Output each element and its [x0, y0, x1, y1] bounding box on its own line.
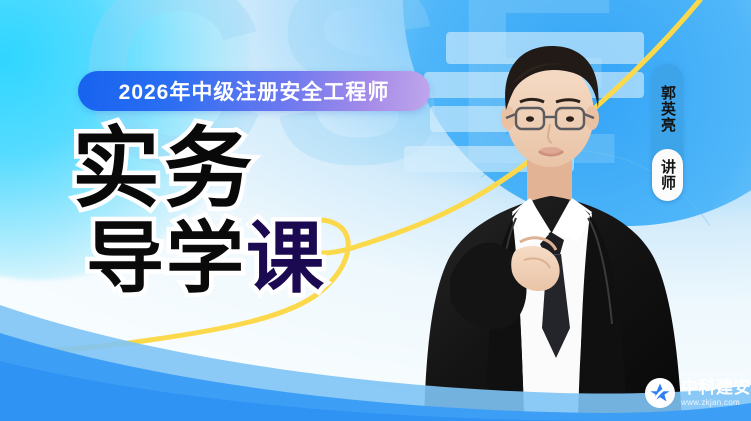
- headline-block: 实务 导学课: [72, 125, 326, 297]
- logo-text-group: 中科建安 www.zkjan.com: [681, 379, 751, 407]
- exam-title-badge[interactable]: 2026年中级注册安全工程师: [78, 71, 430, 111]
- headline-line-1: 实务: [72, 125, 326, 213]
- headline-line-2: 导学课: [86, 219, 326, 297]
- instructor-name: 郭英亮: [652, 64, 683, 153]
- headline-line-2-main: 导学: [86, 214, 246, 302]
- instructor-badge[interactable]: 郭英亮 讲师: [652, 64, 683, 201]
- instructor-name-label: 郭英亮: [657, 85, 678, 133]
- exam-title-label: 2026年中级注册安全工程师: [119, 76, 390, 106]
- logo-brand-name: 中科建安: [681, 379, 751, 397]
- course-poster: CSE: [0, 0, 751, 421]
- logo-url: www.zkjan.com: [681, 398, 751, 407]
- logo-mark-icon: [645, 378, 675, 408]
- brand-logo[interactable]: 中科建安 www.zkjan.com: [645, 378, 751, 408]
- instructor-role: 讲师: [652, 149, 683, 201]
- instructor-role-label: 讲师: [657, 159, 678, 191]
- headline-line-2-tail: 课: [246, 214, 326, 302]
